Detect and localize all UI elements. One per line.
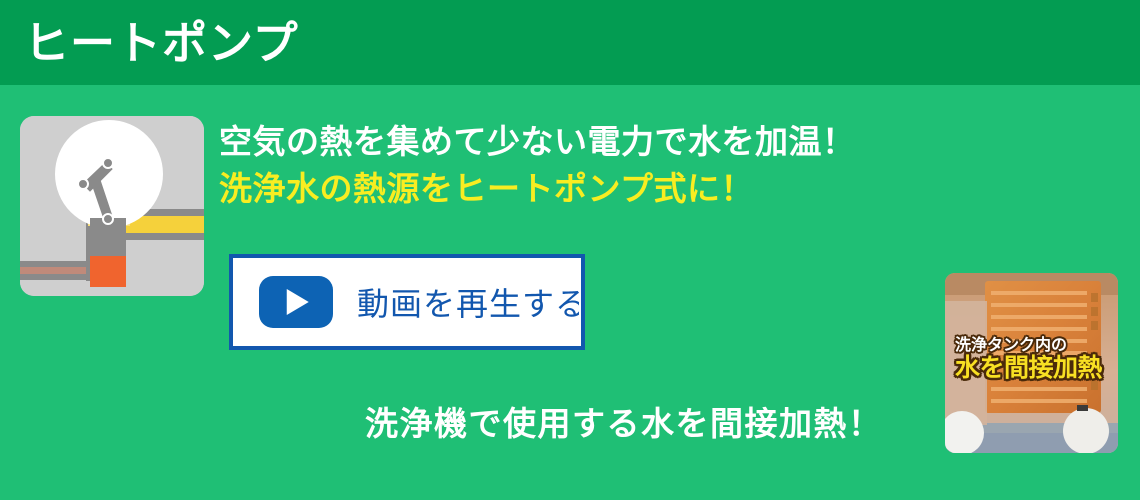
play-video-button-label: 動画を再生する: [357, 279, 588, 325]
bottom-caption: 洗浄機で使用する水を間接加熱！: [365, 402, 883, 446]
washing-tank-heater-thumbnail[interactable]: 洗浄タンク内の 水を間接加熱: [945, 273, 1118, 453]
headline-block: 空気の熱を集めて少ない電力で水を加温！ 洗浄水の熱源をヒートポンプ式に！: [219, 118, 919, 212]
play-video-button[interactable]: 動画を再生する: [229, 254, 585, 350]
headline-line-1: 空気の熱を集めて少ない電力で水を加温！: [219, 118, 919, 165]
heat-pump-icon: [20, 116, 204, 296]
heat-pump-promo-banner: ヒートポンプ: [0, 0, 1140, 500]
youtube-play-icon: [259, 276, 333, 328]
header-bar: ヒートポンプ: [0, 0, 1140, 85]
heat-pump-illustration-tile: [20, 116, 204, 296]
heater-photo-image: [945, 273, 1118, 453]
page-title: ヒートポンプ: [24, 20, 299, 65]
play-triangle-icon: [287, 289, 309, 315]
headline-line-2: 洗浄水の熱源をヒートポンプ式に！: [219, 165, 919, 212]
